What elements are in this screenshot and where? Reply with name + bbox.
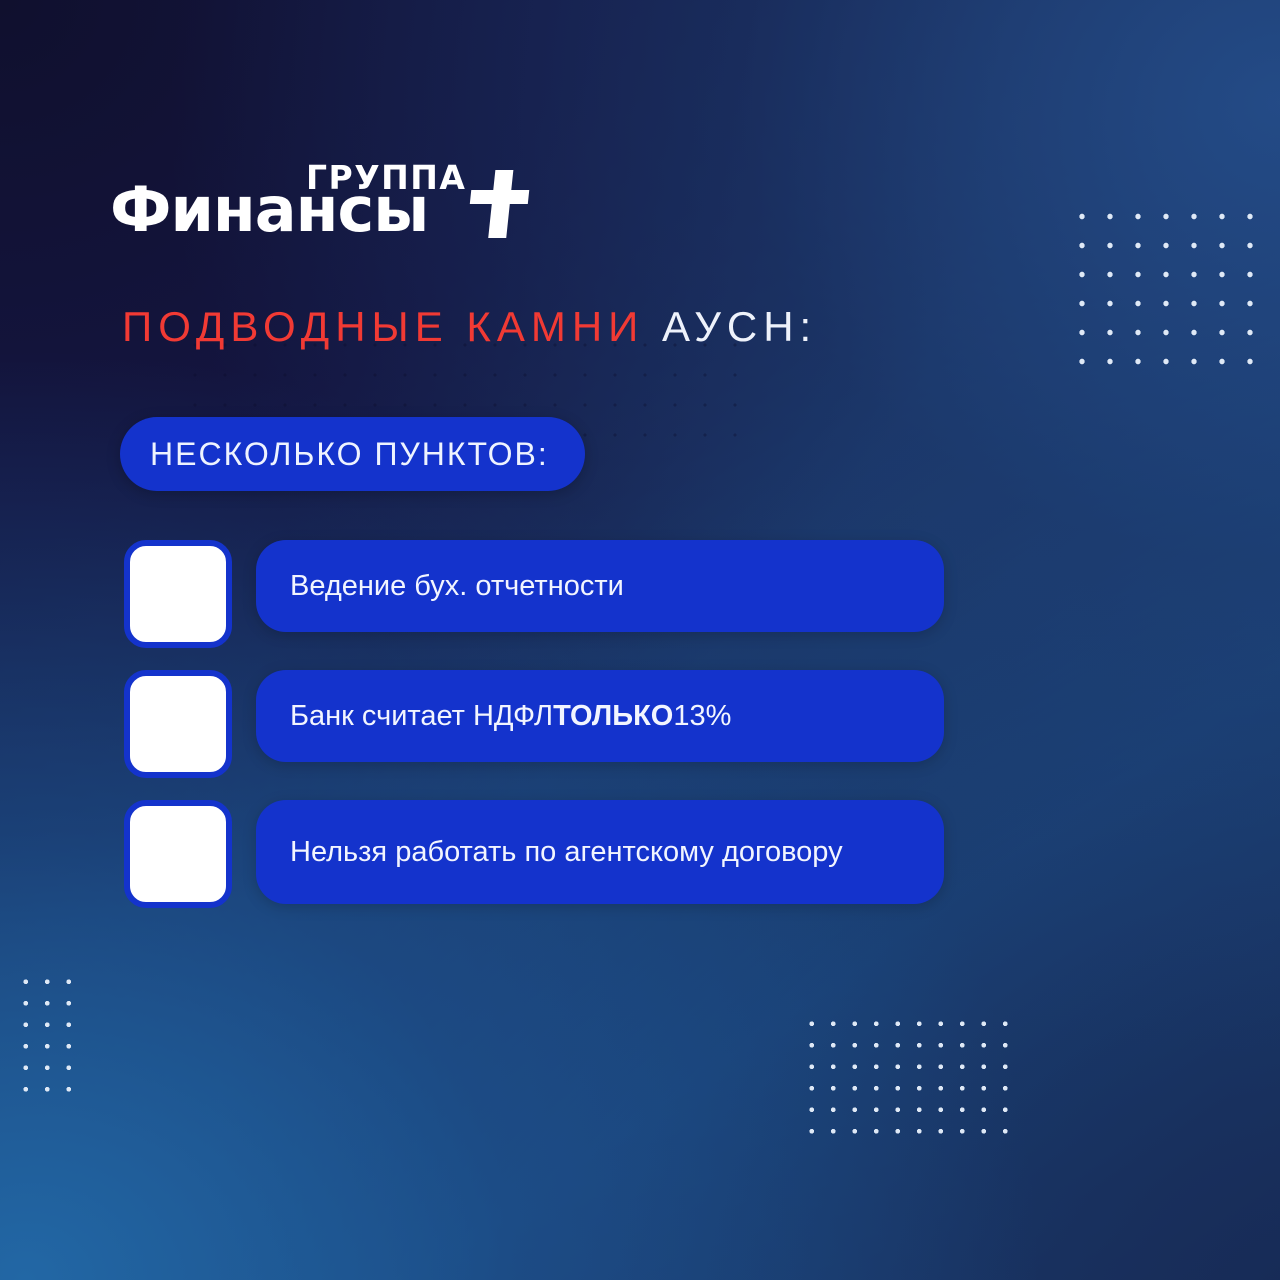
subtitle-pill: НЕСКОЛЬКО ПУНКТОВ: (120, 417, 585, 491)
checklist-item: Банк считает НДФЛ ТОЛЬКО 13% (124, 670, 944, 778)
dot-grid-left-icon (10, 966, 74, 1096)
poster-canvas: ГРУППА Финансы ПОДВОДНЫЕ КАМНИ АУСН: НЕС… (0, 0, 1280, 1280)
page-title: ПОДВОДНЫЕ КАМНИ АУСН: (122, 303, 817, 351)
checklist-item-label: Банк считает НДФЛ (290, 696, 553, 736)
checklist-item-tail: 13% (673, 696, 731, 736)
checklist-item-label: Нельзя работать по агентскому договору (290, 832, 843, 872)
checklist-item: Ведение бух. отчетности (124, 540, 944, 648)
checklist-item-emphasis: ТОЛЬКО (553, 696, 673, 736)
page-title-red: ПОДВОДНЫЕ КАМНИ (122, 303, 644, 350)
checkbox-icon[interactable] (124, 800, 232, 908)
checklist-item-bar: Банк считает НДФЛ ТОЛЬКО 13% (256, 670, 944, 762)
checklist: Ведение бух. отчетности Банк считает НДФ… (124, 540, 944, 930)
checkbox-icon[interactable] (124, 540, 232, 648)
brand-logo: ГРУППА Финансы (110, 158, 530, 258)
checklist-item: Нельзя работать по агентскому договору (124, 800, 944, 908)
checklist-item-bar: Нельзя работать по агентскому договору (256, 800, 944, 904)
brand-name-text: Финансы (110, 179, 428, 241)
checkbox-icon[interactable] (124, 670, 232, 778)
plus-icon (460, 164, 532, 242)
subtitle-pill-label: НЕСКОЛЬКО ПУНКТОВ: (150, 436, 549, 473)
page-title-white: АУСН: (662, 303, 817, 350)
checklist-item-label: Ведение бух. отчетности (290, 566, 624, 606)
dot-grid-top-right-icon (1062, 196, 1270, 372)
dot-grid-bottom-center-icon (796, 1008, 1012, 1138)
checklist-item-bar: Ведение бух. отчетности (256, 540, 944, 632)
